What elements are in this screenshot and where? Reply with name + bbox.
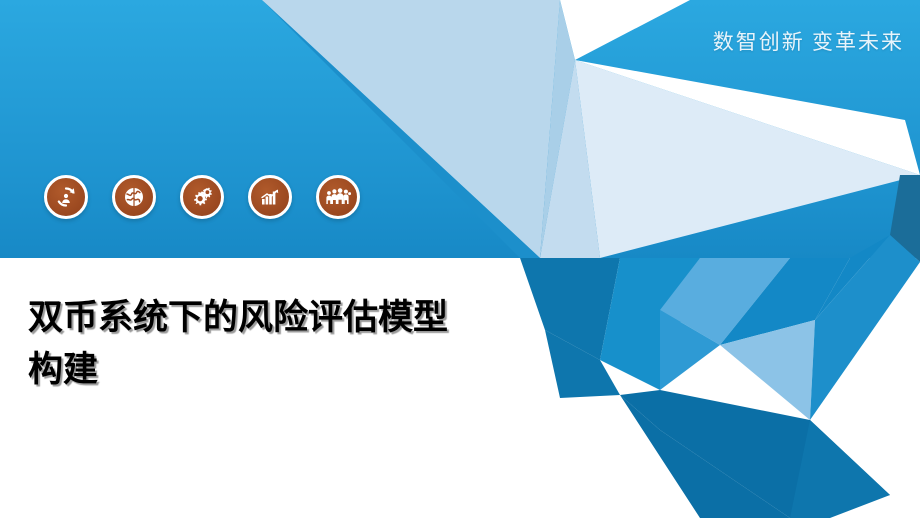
bar-chart-icon <box>258 185 282 209</box>
slide-title: 双币系统下的风险评估模型 构建 <box>28 292 548 396</box>
icon-bar-chart[interactable] <box>248 175 292 219</box>
icon-people-group[interactable] <box>316 175 360 219</box>
title-line-1: 双币系统下的风险评估模型 <box>28 292 548 344</box>
people-group-icon <box>325 185 351 209</box>
title-line-2: 构建 <box>28 344 548 396</box>
icon-gears[interactable] <box>180 175 224 219</box>
poly-white-wedge-top <box>560 0 690 60</box>
poly-upper-pale <box>262 0 560 258</box>
icon-row <box>44 175 360 219</box>
cycle-person-icon <box>54 185 78 209</box>
gears-icon <box>190 185 214 209</box>
slide-tagline: 数智创新 变革未来 <box>713 26 904 56</box>
low-poly-decoration <box>0 0 920 518</box>
poly-fan-large <box>575 60 920 258</box>
icon-globe[interactable] <box>112 175 156 219</box>
presentation-title-slide: 数智创新 变革未来 <box>0 0 920 518</box>
icon-cycle-person[interactable] <box>44 175 88 219</box>
globe-icon <box>122 185 146 209</box>
